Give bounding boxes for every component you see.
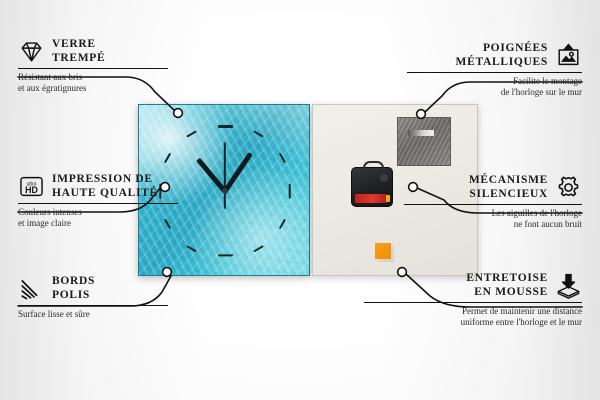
callout-title: IMPRESSION DE xyxy=(52,173,158,187)
picture-frame-icon xyxy=(555,42,582,69)
callout-sub-2: et aux égratignures xyxy=(18,83,168,94)
callout-sub-2: ne font aucun bruit xyxy=(404,219,582,230)
callout-entretoise-en-mousse: ENTRETOISE EN MOUSSE Permet de maintenir… xyxy=(364,272,582,328)
callout-sub: Permet de maintenir une distance xyxy=(364,306,582,317)
callout-title-2: MÉTALLIQUES xyxy=(407,56,548,70)
callout-title-2: EN MOUSSE xyxy=(364,286,548,300)
callout-sub: Facilite le montage xyxy=(407,76,582,87)
callout-bords-polis: BORDS POLIS Surface lisse et sûre xyxy=(18,275,168,320)
callout-sub: Les aiguilles de l'horloge xyxy=(404,208,582,219)
callout-title: ENTRETOISE xyxy=(364,272,548,286)
svg-text:HD: HD xyxy=(25,185,38,195)
callout-title: VERRE xyxy=(52,38,105,52)
callout-sub: Résistant aux bris xyxy=(18,72,168,83)
callout-title: POIGNÉES xyxy=(407,42,548,56)
connector-dot-verre-trempe xyxy=(174,109,183,118)
callout-sub: Couleurs intenses xyxy=(18,207,178,218)
callout-sub-2: uniforme entre l'horloge et le mur xyxy=(364,317,582,328)
callout-verre-trempe: VERRE TREMPÉ Résistant aux bris et aux é… xyxy=(18,38,168,94)
callout-title-2: POLIS xyxy=(52,289,95,303)
callout-rule xyxy=(18,203,178,204)
callout-sub-2: de l'horloge sur le mur xyxy=(407,87,582,98)
gear-icon xyxy=(555,174,582,201)
connector-dot-poignees xyxy=(417,110,426,119)
callout-rule xyxy=(18,68,168,69)
polished-edges-icon xyxy=(18,275,45,302)
callout-title: MÉCANISME xyxy=(404,174,548,188)
press-down-icon xyxy=(555,272,582,299)
callout-title-2: SILENCIEUX xyxy=(404,188,548,202)
callout-mecanisme-silencieux: MÉCANISME SILENCIEUX Les aiguilles de l'… xyxy=(404,174,582,230)
callout-rule xyxy=(364,302,582,303)
callout-sub-2: et image claire xyxy=(18,218,178,229)
ultra-hd-icon: ultra HD xyxy=(18,173,45,200)
callout-title-2: HAUTE QUALITÉ xyxy=(52,187,158,201)
infographic-canvas: VERRE TREMPÉ Résistant aux bris et aux é… xyxy=(0,0,600,400)
callout-title: BORDS xyxy=(52,275,95,289)
callout-rule xyxy=(404,204,582,205)
callout-poignees-metalliques: POIGNÉES MÉTALLIQUES Facilite le montage… xyxy=(407,42,582,98)
callout-title-2: TREMPÉ xyxy=(52,52,105,66)
diamond-icon xyxy=(18,38,45,65)
callout-rule xyxy=(407,72,582,73)
callout-rule xyxy=(18,305,168,306)
callout-impression-haute-qualite: ultra HD IMPRESSION DE HAUTE QUALITÉ Cou… xyxy=(18,173,178,229)
callout-sub: Surface lisse et sûre xyxy=(18,309,168,320)
